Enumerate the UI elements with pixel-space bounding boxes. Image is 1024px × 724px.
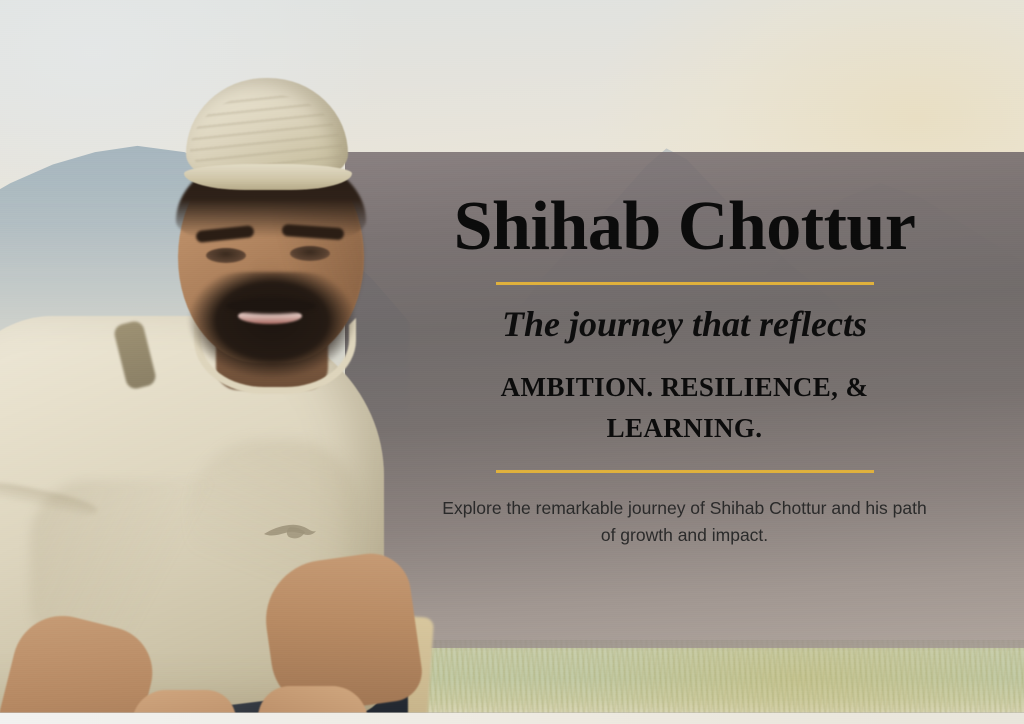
divider-rule-bottom: [496, 470, 874, 473]
subject-eye-right: [290, 246, 330, 261]
poster-text-block: Shihab Chottur The journey that reflects…: [345, 152, 1024, 648]
subject-mustache: [226, 298, 316, 314]
keywords-line-1: AMBITION. RESILIENCE, &: [470, 367, 900, 409]
body-description: Explore the remarkable journey of Shihab…: [435, 495, 935, 549]
divider-rule-top: [496, 282, 874, 285]
keywords-block: AMBITION. RESILIENCE, & LEARNING.: [470, 367, 900, 451]
tagline: The journey that reflects: [345, 305, 1024, 345]
poster-canvas: Shihab Chottur The journey that reflects…: [0, 0, 1024, 724]
subject-eye-left: [206, 248, 246, 263]
prayer-cap-brim: [184, 164, 352, 190]
keywords-line-2: LEARNING.: [470, 408, 900, 450]
page-title: Shihab Chottur: [345, 192, 1024, 262]
puma-logo-icon: [262, 515, 318, 541]
bottom-strip: [0, 713, 1024, 724]
